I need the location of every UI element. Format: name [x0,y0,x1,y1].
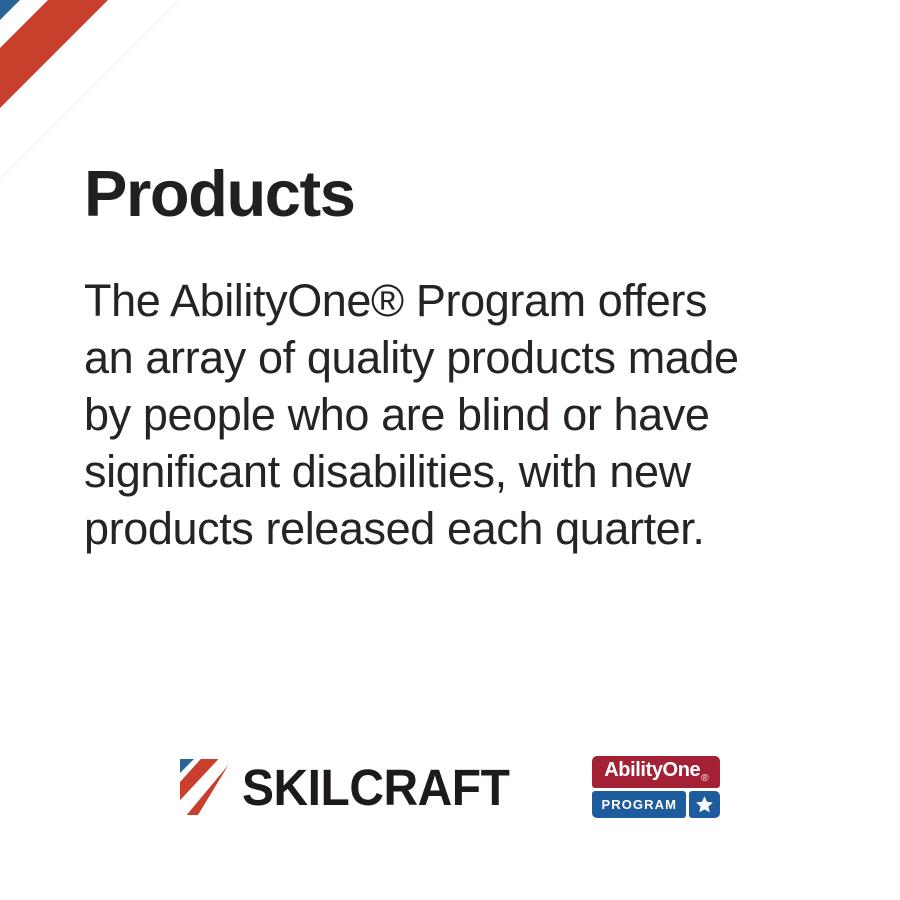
footer-logo-row: SKILCRAFT AbilityOne® PROGRAM [0,742,900,832]
skilcraft-logo: SKILCRAFT [180,756,526,818]
page-title: Products [84,160,355,228]
abilityone-program-box: PROGRAM [592,791,686,818]
body-line: by people who are blind or have [84,386,784,443]
body-paragraph: The AbilityOne® Program offers an array … [84,272,784,557]
abilityone-program-row: PROGRAM [592,791,720,818]
abilityone-logo: AbilityOne® PROGRAM [592,756,720,818]
abilityone-program-label: PROGRAM [601,798,677,811]
abilityone-star-box [689,791,720,818]
body-line: significant disabilities, with new [84,443,784,500]
skilcraft-stripes-icon [180,759,238,815]
star-icon [695,795,714,814]
body-line: an array of quality products made [84,329,784,386]
body-line: products released each quarter. [84,500,784,557]
stripe-red-1 [0,0,148,148]
abilityone-brand-label: AbilityOne® [604,760,708,784]
abilityone-brand-text: AbilityOne [604,759,700,781]
registered-trademark-icon: ® [701,773,708,784]
promo-card: Products The AbilityOne® Program offers … [0,0,900,900]
abilityone-brand-box: AbilityOne® [592,756,720,788]
body-line: The AbilityOne® Program offers [84,272,784,329]
skilcraft-wordmark: SKILCRAFT [242,762,509,813]
stripe-blue [0,0,60,60]
